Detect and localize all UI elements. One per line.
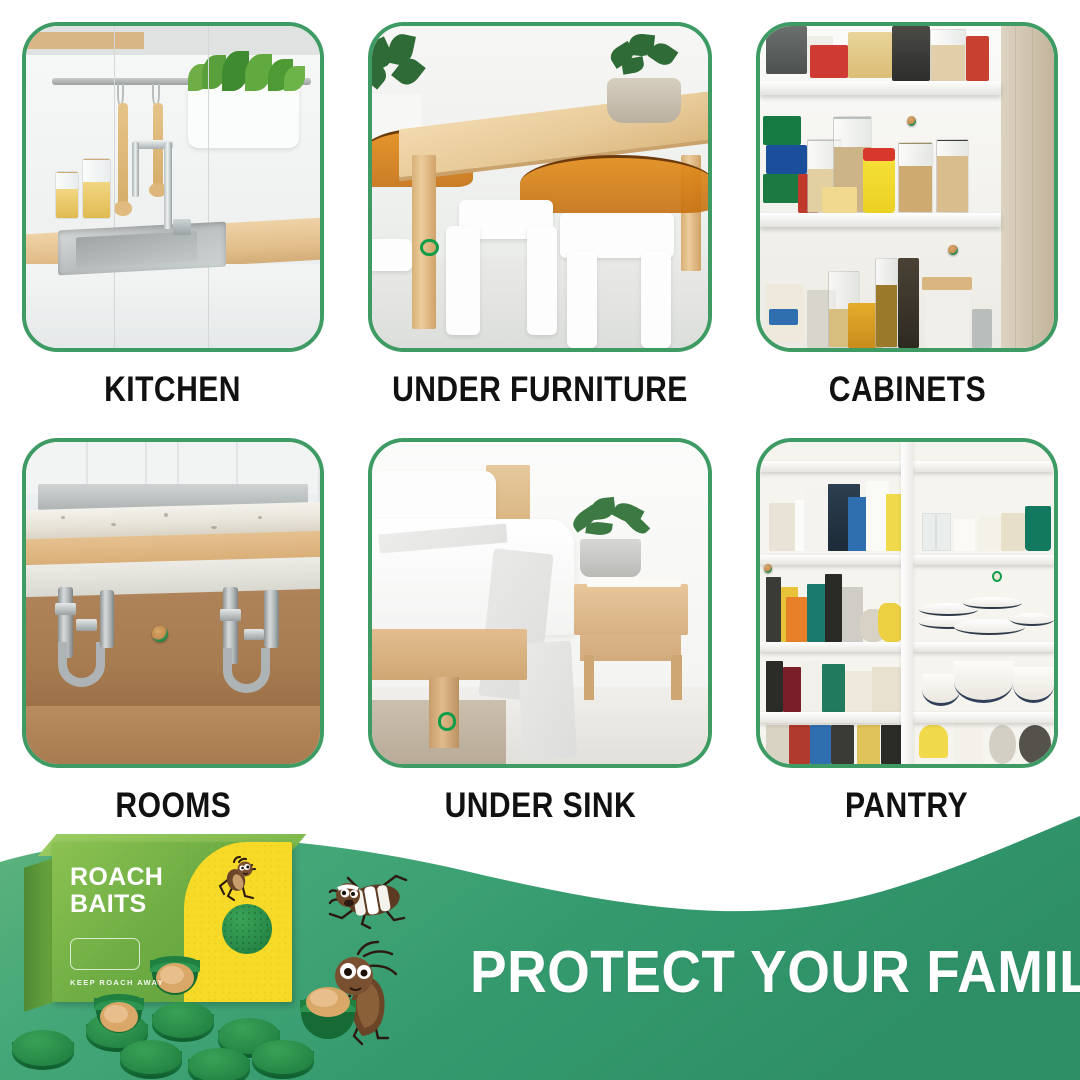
- grid-cell-under-sink: UNDER SINK: [346, 416, 734, 832]
- bait-marker: [992, 571, 1002, 582]
- bait-disc: [120, 1040, 182, 1080]
- box-title-line-2: BAITS: [70, 891, 200, 918]
- photo-label-cabinets: CABINETS: [828, 370, 985, 410]
- grid-cell-cabinets: CABINETS: [734, 0, 1080, 416]
- photo-label-kitchen: KITCHEN: [105, 370, 242, 410]
- roach-eating-bait-icon: [300, 940, 418, 1052]
- photo-rooms: [22, 438, 324, 768]
- box-title-line-1: ROACH: [70, 864, 200, 891]
- photo-under-sink: [368, 438, 712, 768]
- box-blank-panel: [70, 938, 140, 970]
- product-box: ROACH BAITS KEEP ROACH AWAY: [24, 832, 292, 1002]
- box-side-panel: [24, 858, 54, 1012]
- box-product-title: ROACH BAITS: [70, 864, 200, 918]
- grid-cell-rooms: ROOMS: [0, 416, 346, 832]
- photo-under-furniture: [368, 22, 712, 352]
- bait-marker: [948, 245, 957, 255]
- running-roach-icon: [212, 856, 264, 906]
- box-open-bait-graphic: [144, 948, 206, 1002]
- photo-pantry: [756, 438, 1058, 768]
- bait-marker: [764, 564, 772, 572]
- bait-disc: [188, 1048, 250, 1080]
- grid-cell-under-furniture: UNDER FURNITURE: [346, 0, 734, 416]
- banner-headline: PROTECT YOUR FAMILY: [470, 938, 1028, 1006]
- photo-label-under-furniture: UNDER FURNITURE: [392, 370, 688, 410]
- photo-kitchen: [22, 22, 324, 352]
- dead-bandaged-roach-icon: [318, 862, 418, 940]
- bait-marker: [438, 712, 457, 730]
- box-front-panel: ROACH BAITS KEEP ROACH AWAY: [52, 842, 292, 1002]
- bait-marker: [152, 626, 167, 643]
- placement-grid: KITCHEN: [0, 0, 1080, 832]
- bait-marker: [420, 239, 438, 256]
- grid-cell-kitchen: KITCHEN: [0, 0, 346, 416]
- open-bait-disc: [88, 990, 150, 1046]
- grid-cell-pantry: PANTRY: [734, 416, 1080, 832]
- box-bait-disc-graphic: [222, 904, 272, 954]
- bait-disc: [12, 1030, 74, 1076]
- photo-cabinets: [756, 22, 1058, 352]
- box-tagline: KEEP ROACH AWAY: [70, 978, 164, 987]
